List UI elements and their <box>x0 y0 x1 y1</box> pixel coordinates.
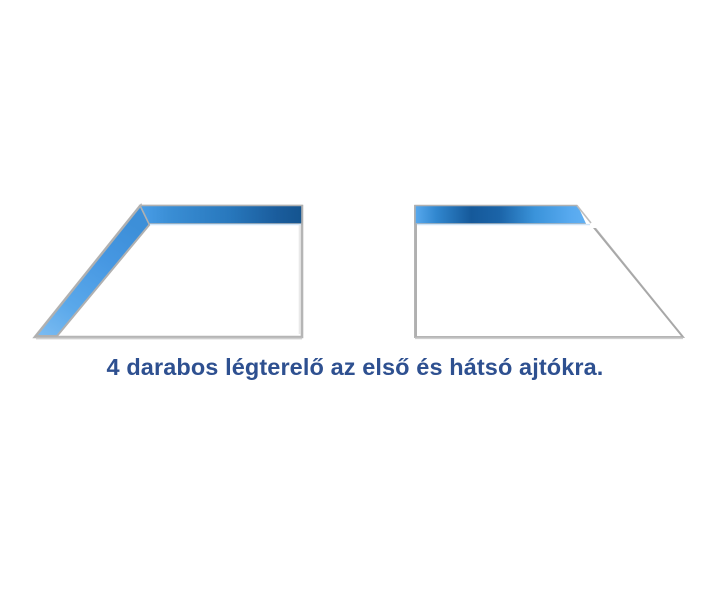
front-panel-fill <box>35 206 302 337</box>
rear-door-deflector <box>415 204 683 338</box>
deflector-illustration <box>0 0 710 613</box>
product-figure: 4 darabos légterelő az első és hátsó ajt… <box>0 0 710 613</box>
front-door-deflector <box>35 205 302 339</box>
product-caption: 4 darabos légterelő az első és hátsó ajt… <box>0 352 710 382</box>
front-top-band <box>140 206 302 225</box>
rear-panel-fill <box>415 206 683 337</box>
rear-top-band <box>415 206 591 225</box>
